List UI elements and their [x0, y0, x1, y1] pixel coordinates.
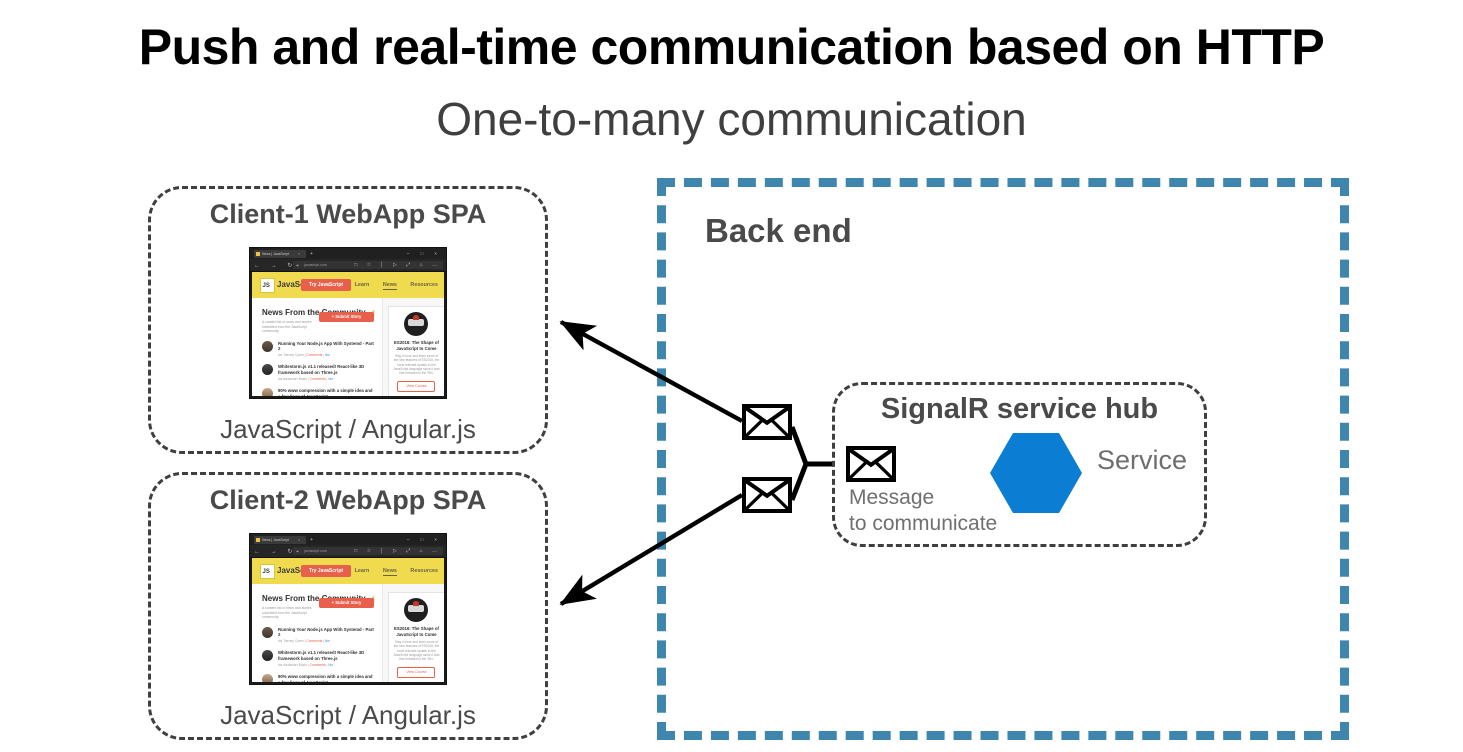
- view-course-button[interactable]: View Course: [397, 667, 435, 678]
- favicon-icon: [256, 252, 260, 256]
- url-text: javascript.com: [304, 262, 327, 268]
- browser-viewport: JS JavaScript.com Try JavaScript Learn N…: [252, 558, 444, 682]
- browser-tab-label: News | JavaScript: [262, 537, 289, 543]
- submit-story-button[interactable]: + Submit Story: [319, 598, 374, 608]
- article-meta: via Alexander Buzin | Comments | like: [278, 663, 374, 667]
- course-logo-icon: [404, 598, 428, 622]
- article-likes[interactable]: like: [325, 353, 330, 357]
- service-hexagon-wrap: [990, 433, 1082, 513]
- slide-canvas: Push and real-time communication based o…: [0, 0, 1463, 752]
- avatar: [262, 674, 273, 682]
- site-body: News From the Community ◢ A curated list…: [252, 298, 444, 396]
- site-navbar: JS JavaScript.com Try JavaScript Learn N…: [252, 558, 444, 584]
- article-row[interactable]: 90% www compression with a simple idea a…: [262, 388, 374, 396]
- article-author: via Alexander Buzin: [278, 663, 307, 667]
- article-comments[interactable]: Comments: [306, 353, 322, 357]
- page-title: Push and real-time communication based o…: [0, 18, 1463, 76]
- service-label: Service: [1097, 445, 1187, 476]
- client-1-box: Client-1 WebApp SPA News | JavaScript × …: [148, 186, 548, 454]
- article-title: Running Your Node.js App With Systemd - …: [278, 341, 374, 352]
- course-card-body: Stay in tune and learn some of the new f…: [393, 640, 440, 661]
- article-comments[interactable]: Comments: [310, 377, 326, 381]
- client-2-title: Client-2 WebApp SPA: [151, 485, 545, 516]
- article-comments[interactable]: Comments: [306, 639, 322, 643]
- submit-story-label: + Submit Story: [319, 312, 374, 322]
- envelope-icon: [742, 477, 792, 513]
- client-1-title: Client-1 WebApp SPA: [151, 199, 545, 230]
- article-row[interactable]: Running Your Node.js App With Systemd - …: [262, 627, 374, 644]
- js-logo-text: JS: [263, 282, 270, 290]
- article-title: 90% www compression with a simple idea a…: [278, 674, 374, 682]
- browser-address-bar: ← → ↻ ⏷ javascript.com □ ☆ │ ▷ ⤢ ⌂ …: [250, 259, 446, 272]
- favicon-icon: [256, 538, 260, 542]
- course-card-body: Stay in tune and learn some of the new f…: [393, 354, 440, 375]
- toolbar-icons[interactable]: □ ☆ │ ▷ ⤢ ⌂ …: [354, 547, 441, 555]
- lock-icon: ⏷: [296, 548, 299, 555]
- article-row[interactable]: 90% www compression with a simple idea a…: [262, 674, 374, 682]
- toolbar-icons[interactable]: □ ☆ │ ▷ ⤢ ⌂ …: [354, 261, 441, 269]
- article-likes[interactable]: like: [325, 639, 330, 643]
- article-likes[interactable]: like: [328, 663, 333, 667]
- message-label-line1: Message: [849, 485, 997, 511]
- avatar: [262, 627, 273, 638]
- site-menu[interactable]: Learn News Resources: [343, 568, 438, 575]
- course-card-title: ES2016: The Shape of JavaScript to Come: [393, 340, 440, 351]
- window-controls[interactable]: – □ ×: [407, 250, 442, 257]
- message-label-line2: to communicate: [849, 511, 997, 537]
- view-course-label: View Course: [398, 382, 434, 391]
- avatar: [262, 364, 273, 375]
- sidebar-column: ES2016: The Shape of JavaScript to Come …: [382, 298, 444, 396]
- article-title: Running Your Node.js App With Systemd - …: [278, 627, 374, 638]
- sidebar-column: ES2016: The Shape of JavaScript to Come …: [382, 584, 444, 682]
- lock-icon: ⏷: [296, 262, 299, 269]
- site-navbar: JS JavaScript.com Try JavaScript Learn N…: [252, 272, 444, 298]
- tab-close-icon[interactable]: ×: [298, 251, 300, 257]
- article-row[interactable]: Whitestorm.js v1.1 released! React-like …: [262, 650, 374, 667]
- article-meta: via Tierney Cyren | Comments | like: [278, 353, 374, 357]
- navigation-icons[interactable]: ← → ↻: [254, 548, 297, 556]
- submit-story-label: + Submit Story: [319, 598, 374, 608]
- article-author: via Alexander Buzin: [278, 377, 307, 381]
- submit-story-button[interactable]: + Submit Story: [319, 312, 374, 322]
- browser-address-bar: ← → ↻ ⏷ javascript.com □ ☆ │ ▷ ⤢ ⌂ …: [250, 545, 446, 558]
- avatar: [262, 341, 273, 352]
- tab-close-icon[interactable]: ×: [298, 537, 300, 543]
- js-logo-icon: JS: [260, 278, 275, 293]
- page-subtitle: One-to-many communication: [0, 92, 1463, 146]
- article-likes[interactable]: like: [328, 377, 333, 381]
- course-card[interactable]: ES2016: The Shape of JavaScript to Come …: [388, 306, 444, 396]
- view-course-label: View Course: [398, 668, 434, 677]
- js-logo-icon: JS: [260, 564, 275, 579]
- client-2-footer: JavaScript / Angular.js: [151, 700, 545, 731]
- view-course-button[interactable]: View Course: [397, 381, 435, 392]
- news-column: News From the Community ◢ A curated list…: [252, 298, 382, 396]
- menu-item-learn[interactable]: Learn: [355, 282, 370, 288]
- client-1-footer: JavaScript / Angular.js: [151, 414, 545, 445]
- site-body: News From the Community ◢ A curated list…: [252, 584, 444, 682]
- article-title: 90% www compression with a simple idea a…: [278, 388, 374, 396]
- new-tab-icon[interactable]: +: [310, 537, 313, 543]
- menu-item-resources[interactable]: Resources: [410, 282, 438, 288]
- browser-title-bar: News | JavaScript × + – □ ×: [250, 248, 446, 259]
- menu-item-learn[interactable]: Learn: [355, 568, 370, 574]
- browser-tab-label: News | JavaScript: [262, 251, 289, 257]
- js-logo-text: JS: [263, 568, 270, 576]
- window-controls[interactable]: – □ ×: [407, 536, 442, 543]
- article-meta: via Alexander Buzin | Comments | like: [278, 377, 374, 381]
- message-label: Message to communicate: [849, 485, 997, 537]
- course-card[interactable]: ES2016: The Shape of JavaScript to Come …: [388, 592, 444, 682]
- new-tab-icon[interactable]: +: [310, 251, 313, 257]
- site-menu[interactable]: Learn News Resources: [343, 282, 438, 289]
- article-meta: via Tierney Cyren | Comments | like: [278, 639, 374, 643]
- signalr-hub-title: SignalR service hub: [835, 393, 1204, 426]
- browser-title-bar: News | JavaScript × + – □ ×: [250, 534, 446, 545]
- browser-viewport: JS JavaScript.com Try JavaScript Learn N…: [252, 272, 444, 396]
- service-hexagon-icon: [990, 433, 1082, 513]
- article-row[interactable]: Whitestorm.js v1.1 released! React-like …: [262, 364, 374, 381]
- article-author: via Tierney Cyren: [278, 639, 304, 643]
- menu-item-news[interactable]: News: [383, 568, 397, 576]
- article-title: Whitestorm.js v1.1 released! React-like …: [278, 364, 374, 375]
- menu-item-resources[interactable]: Resources: [410, 568, 438, 574]
- avatar: [262, 388, 273, 396]
- client-2-box: Client-2 WebApp SPA News | JavaScript × …: [148, 472, 548, 740]
- article-row[interactable]: Running Your Node.js App With Systemd - …: [262, 341, 374, 358]
- article-comments[interactable]: Comments: [310, 663, 326, 667]
- envelope-icon: [742, 404, 792, 440]
- course-logo-icon: [404, 312, 428, 336]
- news-subheading: A curated list of news and stories submi…: [262, 320, 324, 334]
- client-2-browser-mockup: News | JavaScript × + – □ × ← → ↻ ⏷ java…: [249, 533, 447, 685]
- news-subheading: A curated list of news and stories submi…: [262, 606, 324, 620]
- navigation-icons[interactable]: ← → ↻: [254, 262, 297, 270]
- article-author: via Tierney Cyren: [278, 353, 304, 357]
- url-text: javascript.com: [304, 548, 327, 554]
- menu-item-news[interactable]: News: [383, 282, 397, 290]
- course-card-title: ES2016: The Shape of JavaScript to Come: [393, 626, 440, 637]
- news-column: News From the Community ◢ A curated list…: [252, 584, 382, 682]
- avatar: [262, 650, 273, 661]
- envelope-icon: [846, 446, 896, 482]
- backend-label: Back end: [705, 212, 852, 250]
- client-1-browser-mockup: News | JavaScript × + – □ × ← → ↻ ⏷ java…: [249, 247, 447, 399]
- article-title: Whitestorm.js v1.1 released! React-like …: [278, 650, 374, 661]
